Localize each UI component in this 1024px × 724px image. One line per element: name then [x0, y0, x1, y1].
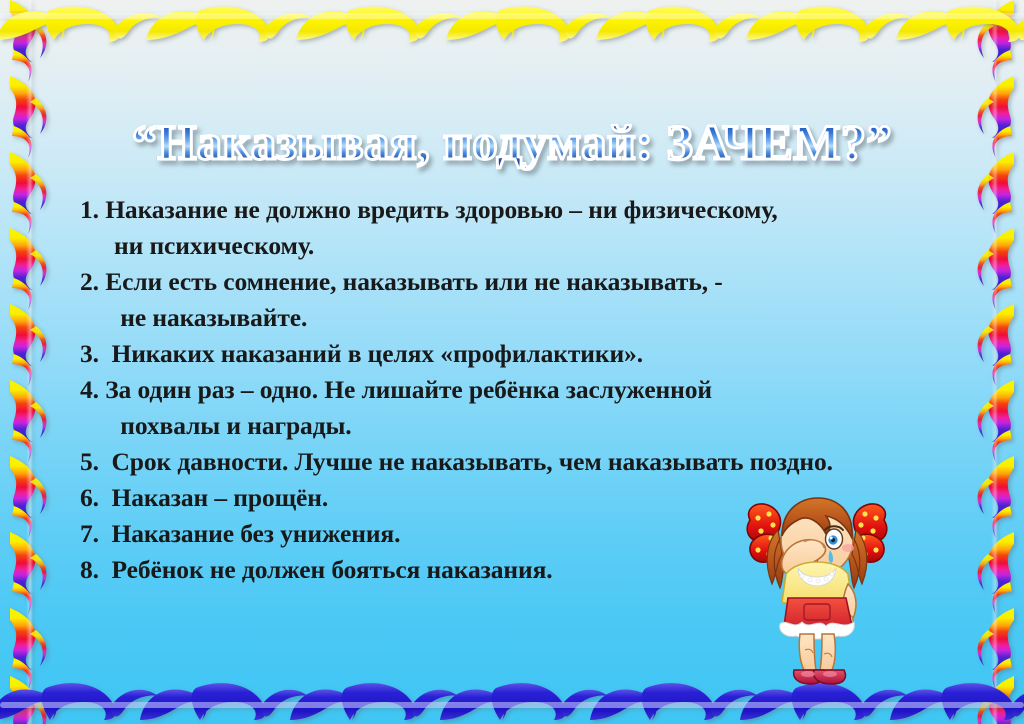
decorative-border-top — [0, 0, 1024, 52]
list-item: 1. Наказание не должно вредить здоровью … — [80, 192, 970, 228]
page-title: “Наказывая, подумай: ЗАЧЕМ?” — [132, 116, 892, 169]
shoes — [794, 670, 846, 684]
list-item: 3. Никаких наказаний в целях «профилакти… — [80, 336, 970, 372]
poster-canvas: “Наказывая, подумай: ЗАЧЕМ?” 1. Наказани… — [0, 0, 1024, 724]
list-item-continuation: не наказывайте. — [80, 300, 970, 336]
list-item: 2. Если есть сомнение, наказывать или не… — [80, 264, 970, 300]
list-item-continuation: ни психическому. — [80, 228, 970, 264]
list-item: 4. За один раз – одно. Не лишайте ребёнк… — [80, 372, 970, 408]
list-item-continuation: похвалы и награды. — [80, 408, 970, 444]
poster-title-container: “Наказывая, подумай: ЗАЧЕМ?” — [0, 82, 1024, 202]
ruffle — [780, 622, 855, 639]
crying-girl-illustration — [742, 492, 892, 687]
list-item: 5. Срок давности. Лучше не наказывать, ч… — [80, 444, 970, 480]
